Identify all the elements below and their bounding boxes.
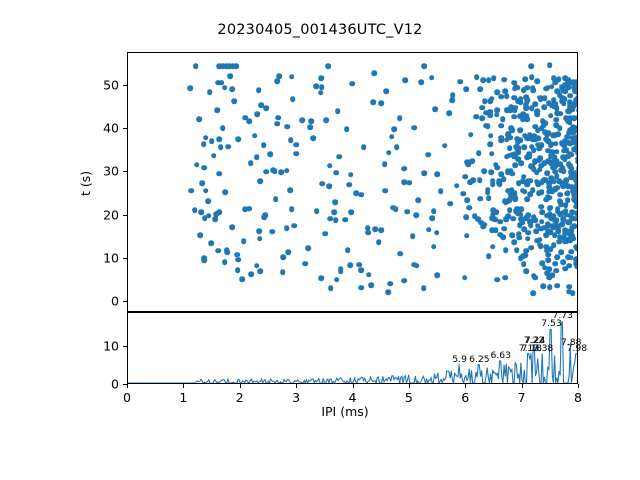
scatter-point (450, 92, 456, 98)
scatter-y-tick-mark (123, 128, 127, 129)
scatter-point (502, 226, 508, 232)
scatter-point (552, 154, 558, 160)
scatter-point (522, 144, 528, 150)
scatter-point (284, 168, 290, 174)
scatter-point (497, 219, 503, 225)
scatter-point (512, 105, 518, 111)
scatter-y-tick-label: 10 (69, 250, 119, 265)
scatter-point (567, 219, 573, 225)
scatter-point (267, 151, 273, 157)
scatter-point (270, 167, 276, 173)
scatter-point (485, 190, 491, 196)
histogram-y-tick-mark (123, 346, 127, 347)
scatter-point (220, 126, 226, 132)
scatter-point (488, 133, 494, 139)
scatter-point (412, 125, 418, 131)
scatter-point (314, 208, 320, 214)
scatter-point (350, 81, 356, 87)
scatter-point (425, 152, 431, 158)
scatter-point (523, 269, 529, 275)
scatter-point (413, 212, 419, 218)
scatter-point (502, 275, 508, 281)
scatter-point (485, 123, 491, 129)
scatter-point (386, 289, 392, 295)
scatter-point (467, 179, 473, 185)
scatter-point (404, 209, 410, 215)
scatter-point (507, 146, 513, 152)
scatter-point (344, 126, 350, 132)
scatter-point (418, 79, 424, 85)
scatter-point (371, 71, 377, 77)
scatter-point (335, 108, 341, 114)
matplotlib-figure: 20230405_001436UTC_V12 01020304050 t (s)… (0, 0, 640, 480)
scatter-point (463, 215, 469, 221)
scatter-point (254, 154, 260, 160)
scatter-point (275, 115, 281, 121)
scatter-point (235, 137, 241, 143)
scatter-point (576, 114, 578, 120)
scatter-point (557, 211, 563, 217)
scatter-point (359, 285, 365, 291)
scatter-point (222, 189, 228, 195)
scatter-point (284, 124, 290, 130)
scatter-point (226, 144, 232, 150)
scatter-point (576, 165, 578, 171)
scatter-point (529, 75, 535, 81)
scatter-point (555, 132, 561, 138)
scatter-point (474, 114, 480, 120)
histogram-x-tick-label: 6 (461, 390, 469, 405)
scatter-point (516, 181, 522, 187)
scatter-point (512, 163, 518, 169)
scatter-point (538, 95, 544, 101)
scatter-point (518, 128, 524, 134)
scatter-point (520, 188, 526, 194)
scatter-point (390, 205, 396, 211)
scatter-point (539, 209, 545, 215)
scatter-point (554, 117, 560, 123)
scatter-point (366, 272, 372, 278)
scatter-point (293, 142, 299, 148)
scatter-y-tick-mark (123, 85, 127, 86)
scatter-point (562, 266, 568, 272)
scatter-point (487, 98, 493, 104)
scatter-point (448, 201, 454, 207)
scatter-point (421, 170, 427, 176)
scatter-point (499, 123, 505, 129)
scatter-point (507, 107, 513, 113)
scatter-point (509, 232, 515, 238)
page-title: 20230405_001436UTC_V12 (0, 22, 640, 38)
scatter-point (248, 271, 254, 277)
scatter-point (533, 136, 539, 142)
scatter-point (280, 254, 286, 260)
scatter-point (540, 284, 546, 290)
scatter-point (536, 191, 542, 197)
scatter-point (516, 231, 522, 237)
scatter-point (292, 223, 298, 229)
scatter-point (421, 63, 427, 69)
scatter-y-tick-label: 50 (69, 77, 119, 92)
scatter-point (552, 232, 558, 238)
histogram-x-tick-mark (409, 384, 410, 388)
scatter-point (521, 261, 527, 267)
scatter-point (465, 162, 471, 168)
scatter-point (255, 111, 261, 117)
histogram-x-tick-label: 0 (123, 390, 131, 405)
histogram-x-axis-label: IPI (ms) (25, 404, 640, 419)
scatter-point (566, 77, 572, 83)
peak-annotation-label: 7.98 (567, 343, 587, 354)
scatter-y-tick-label: 30 (69, 164, 119, 179)
scatter-point (552, 261, 558, 267)
scatter-point (464, 198, 470, 204)
scatter-point (487, 141, 493, 147)
scatter-point (197, 233, 203, 239)
scatter-point (257, 236, 263, 242)
scatter-point (379, 227, 385, 233)
scatter-point (248, 160, 254, 166)
scatter-point (575, 263, 579, 269)
scatter-point (566, 254, 572, 260)
scatter-point (319, 84, 325, 90)
scatter-point (558, 249, 564, 255)
scatter-point (570, 210, 576, 216)
scatter-y-tick-label: 40 (69, 120, 119, 135)
scatter-point (383, 88, 389, 94)
scatter-point (397, 251, 403, 257)
scatter-point (501, 77, 507, 83)
scatter-point (497, 181, 503, 187)
scatter-point (198, 209, 204, 215)
histogram-x-tick-mark (578, 384, 579, 388)
scatter-point (449, 97, 455, 103)
scatter-point (231, 98, 237, 104)
scatter-point (442, 143, 448, 149)
scatter-point (475, 216, 481, 222)
scatter-point (575, 150, 578, 156)
scatter-point (446, 111, 452, 117)
scatter-point (345, 247, 351, 253)
scatter-point (464, 233, 470, 239)
scatter-point (542, 130, 548, 136)
scatter-point (216, 137, 222, 143)
scatter-point (382, 161, 388, 167)
scatter-point (576, 91, 578, 97)
scatter-point (273, 197, 279, 203)
scatter-point (323, 231, 329, 237)
scatter-point (566, 284, 572, 290)
scatter-point (575, 196, 578, 202)
scatter-point (524, 197, 530, 203)
scatter-point (525, 236, 531, 242)
scatter-point (288, 137, 294, 143)
scatter-point (504, 93, 510, 99)
scatter-point (307, 125, 313, 131)
scatter-point (224, 250, 230, 256)
scatter-point (348, 210, 354, 216)
scatter-point (524, 248, 530, 254)
scatter-point (521, 226, 527, 232)
scatter-point (454, 183, 460, 189)
scatter-point (555, 283, 561, 289)
histogram-plot-area (127, 312, 578, 384)
scatter-point (544, 171, 550, 177)
scatter-point (240, 276, 246, 282)
scatter-y-tick-mark (123, 301, 127, 302)
scatter-point (562, 96, 568, 102)
scatter-point (227, 74, 233, 80)
scatter-point (247, 118, 253, 124)
scatter-point (288, 188, 294, 194)
scatter-point (534, 78, 540, 84)
peak-annotation-label: 7.73 (553, 310, 573, 321)
scatter-point (202, 165, 208, 171)
scatter-point (549, 272, 555, 278)
scatter-point (534, 179, 540, 185)
scatter-point (528, 136, 534, 142)
scatter-point (527, 153, 533, 159)
scatter-point (429, 75, 435, 81)
scatter-point (319, 275, 325, 281)
scatter-point (334, 277, 340, 283)
scatter-point (328, 216, 334, 222)
scatter-point (491, 75, 497, 81)
scatter-point (242, 206, 248, 212)
scatter-point (531, 290, 537, 296)
scatter-point (557, 125, 563, 131)
scatter-point (544, 136, 550, 142)
scatter-point (402, 78, 408, 84)
scatter-point (560, 183, 566, 189)
scatter-point (552, 162, 558, 168)
scatter-point (235, 257, 241, 263)
scatter-point (216, 80, 222, 86)
scatter-y-axis-label: t (s) (78, 171, 93, 196)
scatter-point (359, 192, 365, 198)
scatter-point (230, 87, 236, 93)
scatter-point (500, 234, 506, 240)
scatter-point (550, 178, 556, 184)
scatter-point (573, 256, 578, 262)
scatter-point (489, 169, 495, 175)
scatter-point (539, 163, 545, 169)
scatter-point (313, 84, 319, 90)
scatter-point (285, 249, 291, 255)
scatter-point (528, 163, 534, 169)
peak-annotation-label: 5.9 (452, 354, 467, 365)
histogram-trace (128, 313, 577, 383)
scatter-point (548, 113, 554, 119)
scatter-point (534, 111, 540, 117)
scatter-point (516, 211, 522, 217)
scatter-point (382, 188, 388, 194)
scatter-point (573, 178, 578, 184)
scatter-point (558, 202, 564, 208)
scatter-point (524, 100, 530, 106)
scatter-point (189, 188, 195, 194)
scatter-point (431, 208, 437, 214)
scatter-point (490, 244, 496, 250)
scatter-point (503, 216, 509, 222)
scatter-point (209, 240, 215, 246)
scatter-point (537, 242, 543, 248)
scatter-point (365, 230, 371, 236)
scatter-point (557, 192, 563, 198)
scatter-point (269, 229, 275, 235)
histogram-x-tick-label: 3 (292, 390, 300, 405)
scatter-point (530, 87, 536, 93)
scatter-point (547, 266, 553, 272)
scatter-point (261, 142, 267, 148)
scatter-point (327, 163, 333, 169)
scatter-point (512, 192, 518, 198)
scatter-point (333, 199, 339, 205)
scatter-point (319, 75, 325, 81)
scatter-point (206, 213, 212, 219)
scatter-point (209, 138, 215, 144)
scatter-point (294, 151, 300, 157)
scatter-point (201, 142, 207, 148)
scatter-point (306, 246, 312, 252)
scatter-point (554, 110, 560, 116)
scatter-point (538, 155, 544, 161)
scatter-point (486, 77, 492, 83)
scatter-point (342, 217, 348, 223)
scatter-point (421, 285, 427, 291)
scatter-point (252, 133, 258, 139)
scatter-point (545, 148, 551, 154)
scatter-point (215, 248, 221, 254)
scatter-point (438, 188, 444, 194)
scatter-point (426, 227, 432, 233)
scatter-point (308, 118, 314, 124)
scatter-point (263, 106, 269, 112)
scatter-point (394, 144, 400, 150)
scatter-point (544, 247, 550, 253)
histogram-x-tick-mark (296, 384, 297, 388)
scatter-point (338, 266, 344, 272)
scatter-point (262, 212, 268, 218)
scatter-point (521, 111, 527, 117)
scatter-point (389, 134, 395, 140)
scatter-point (481, 169, 487, 175)
scatter-point (565, 108, 571, 114)
scatter-point (373, 226, 379, 232)
scatter-point (284, 226, 290, 232)
scatter-point (486, 253, 492, 259)
scatter-point (370, 99, 376, 105)
scatter-point (222, 259, 228, 265)
scatter-y-tick-label: 20 (69, 207, 119, 222)
histogram-x-tick-label: 8 (574, 390, 582, 405)
scatter-point (569, 233, 575, 239)
scatter-point (397, 116, 403, 122)
scatter-point (368, 282, 374, 288)
scatter-point (514, 247, 520, 253)
scatter-point (532, 102, 538, 108)
scatter-point (327, 183, 333, 189)
scatter-point (527, 192, 533, 198)
scatter-point (568, 93, 574, 99)
scatter-point (545, 194, 551, 200)
peak-annotation-label: 6.25 (469, 354, 489, 365)
scatter-point (569, 225, 575, 231)
scatter-point (192, 208, 198, 214)
scatter-point (505, 188, 511, 194)
scatter-point (328, 286, 334, 292)
scatter-point (575, 159, 578, 165)
scatter-point (495, 165, 501, 171)
peak-annotation-label: 7.38 (533, 343, 553, 354)
scatter-point (574, 100, 578, 106)
scatter-point (503, 200, 509, 206)
scatter-point (560, 260, 566, 266)
scatter-point (482, 98, 488, 104)
scatter-point (280, 270, 286, 276)
scatter-point (346, 182, 352, 188)
scatter-point (563, 229, 569, 235)
scatter-point (318, 90, 324, 96)
histogram-x-tick-mark (353, 384, 354, 388)
histogram-x-tick-mark (465, 384, 466, 388)
scatter-point (205, 198, 211, 204)
scatter-point (551, 75, 557, 81)
scatter-point (256, 87, 262, 93)
scatter-point (458, 79, 464, 85)
scatter-point (300, 117, 306, 123)
scatter-point (537, 146, 543, 152)
scatter-point (557, 223, 563, 229)
scatter-point (524, 182, 530, 188)
scatter-point (474, 74, 480, 80)
scatter-point (207, 89, 213, 95)
scatter-point (477, 86, 483, 92)
scatter-point (431, 244, 437, 250)
scatter-point (412, 262, 418, 268)
scatter-point (574, 134, 578, 140)
scatter-point (574, 127, 578, 133)
scatter-point (489, 151, 495, 157)
peak-annotation-label: 6.63 (491, 350, 511, 361)
scatter-point (511, 216, 517, 222)
scatter-point (515, 139, 521, 145)
scatter-point (531, 273, 537, 279)
scatter-point (479, 115, 485, 121)
scatter-point (276, 73, 282, 79)
scatter-point (462, 275, 468, 281)
scatter-point (522, 76, 528, 82)
histogram-y-tick-label: 0 (69, 377, 119, 392)
scatter-point (461, 191, 467, 197)
histogram-x-tick-mark (522, 384, 523, 388)
scatter-point (489, 228, 495, 234)
scatter-point (527, 220, 533, 226)
scatter-point (187, 85, 193, 91)
scatter-point (545, 85, 551, 91)
scatter-point (333, 217, 339, 223)
scatter-point (511, 95, 517, 101)
scatter-point (542, 121, 548, 127)
scatter-point (562, 157, 568, 163)
scatter-point (505, 170, 511, 176)
scatter-point (502, 88, 508, 94)
histogram-x-tick-label: 1 (179, 390, 187, 405)
scatter-y-tick-mark (123, 258, 127, 259)
scatter-point (503, 247, 509, 253)
scatter-point (521, 174, 527, 180)
scatter-point (407, 180, 413, 186)
